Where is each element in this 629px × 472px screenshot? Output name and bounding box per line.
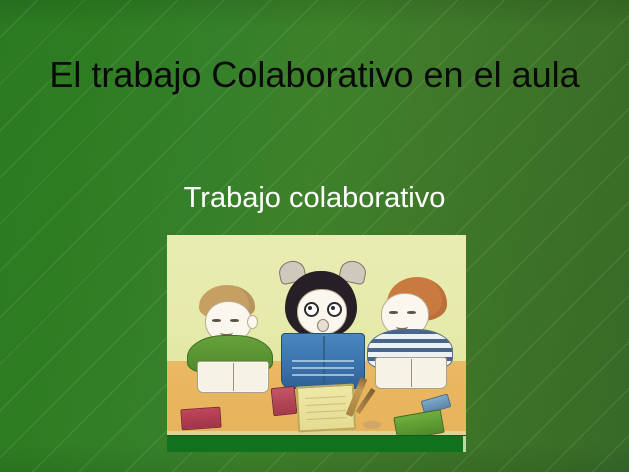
child-center-eye-left (304, 302, 319, 317)
child-center-blue-book (281, 333, 365, 389)
child-right-open-book (375, 357, 447, 389)
child-center-pupil-right (331, 306, 335, 310)
child-left-eye-right (230, 319, 239, 322)
child-center-pupil-left (308, 306, 312, 310)
child-right (367, 277, 459, 389)
child-right-eye-left (389, 311, 398, 314)
desk-red-book-center (271, 386, 298, 416)
desk-red-book-left (180, 407, 221, 431)
slide-title: El trabajo Colaborativo en el aula (34, 52, 595, 97)
child-center-eye-right (327, 302, 342, 317)
child-left (185, 285, 277, 390)
child-left-eye-left (212, 319, 221, 322)
child-left-open-book (197, 361, 269, 393)
child-left-ear (247, 315, 258, 329)
child-center (275, 261, 370, 391)
illustration-three-children-reading (167, 235, 466, 452)
child-center-blue-book-text-lines (292, 360, 354, 362)
illustration-bottom-green-bar (167, 435, 466, 452)
child-center-mouth (317, 319, 329, 332)
desk-small-object (363, 421, 381, 429)
presentation-slide: El trabajo Colaborativo en el aula Traba… (0, 0, 629, 472)
desk-yellow-notebook-lines (305, 396, 345, 399)
slide-subtitle: Trabajo colaborativo (34, 180, 595, 216)
child-right-eye-right (407, 311, 416, 314)
